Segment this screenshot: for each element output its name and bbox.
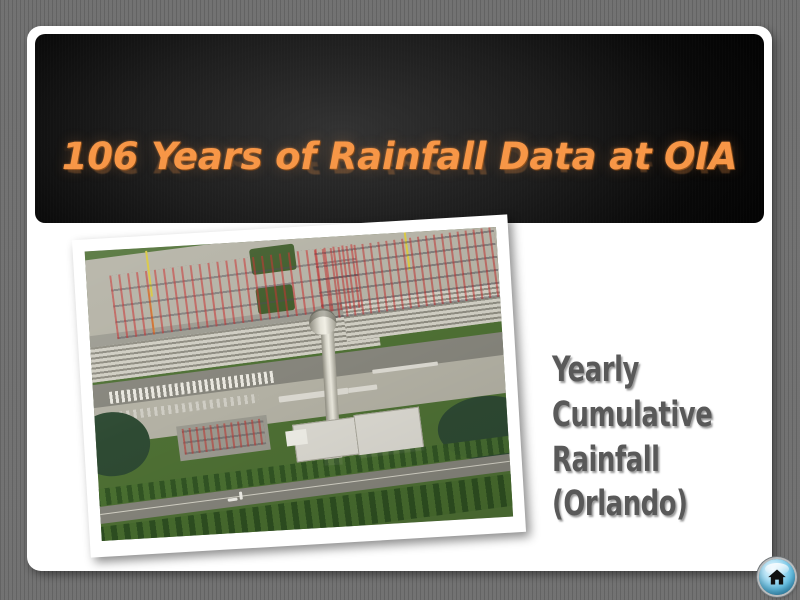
caption-line-2: Cumulative — [552, 393, 732, 438]
caption-line-1: Yearly — [552, 348, 732, 393]
title-wrap: 106 Years of Rainfall Data at OIA 106 Ye… — [35, 138, 764, 214]
aerial-airport-photo — [85, 227, 513, 541]
caption-line-4: (Orlando) — [552, 482, 732, 527]
title-banner: 106 Years of Rainfall Data at OIA 106 Ye… — [35, 34, 764, 223]
caption-block: Yearly Cumulative Rainfall (Orlando) — [552, 348, 772, 527]
photo-frame — [72, 214, 526, 557]
presentation-slide: 106 Years of Rainfall Data at OIA 106 Ye… — [27, 26, 772, 571]
page-title-reflection: 106 Years of Rainfall Data at OIA — [35, 140, 764, 177]
caption-line-3: Rainfall — [552, 438, 732, 483]
home-icon — [767, 567, 787, 587]
home-button[interactable] — [759, 559, 795, 595]
desktop-background: 106 Years of Rainfall Data at OIA 106 Ye… — [0, 0, 800, 600]
